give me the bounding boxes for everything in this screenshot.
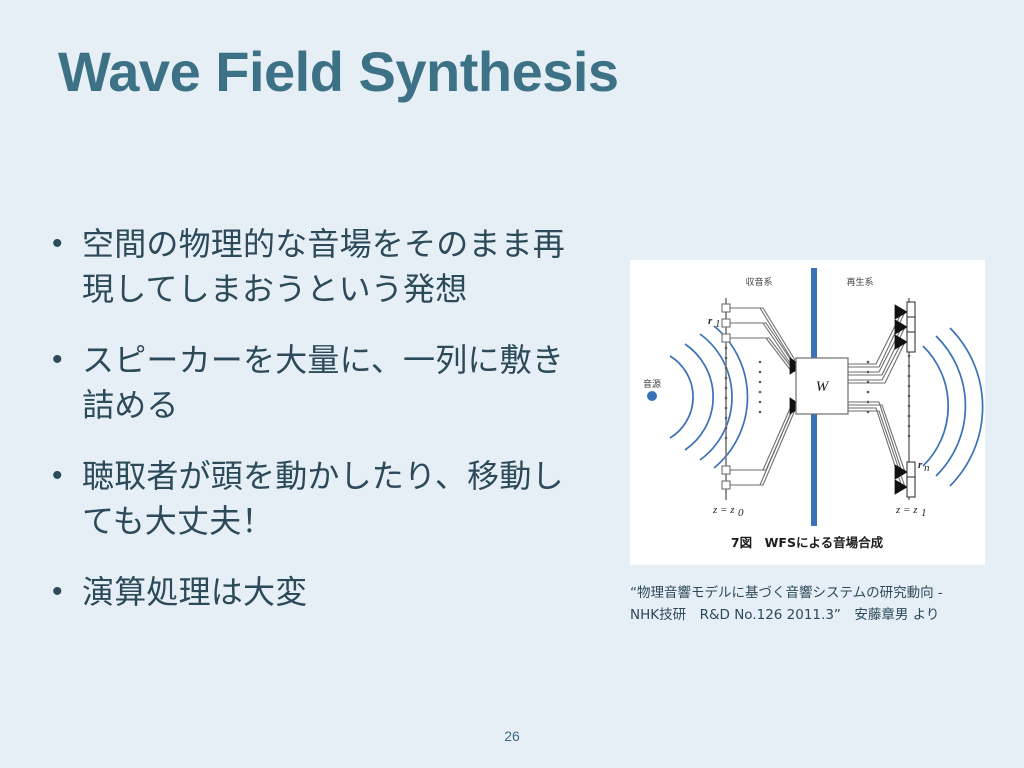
axis-label-right: z = z 1: [895, 504, 927, 519]
citation-line-2: NHK技研 R&D No.126 2011.3” 安藤章男 より: [630, 604, 990, 626]
label-mic-array: r: [708, 315, 713, 327]
capture-wires-bottom: [730, 404, 795, 485]
list-item: • 聴取者が頭を動かしたり、移動しても大丈夫！: [46, 454, 591, 544]
bullet-marker-icon: •: [46, 338, 82, 382]
list-item: • 空間の物理的な音場をそのまま再現してしまおうという発想: [46, 222, 591, 312]
axis-right-sub: 1: [921, 507, 927, 519]
capture-wires-top: [730, 308, 795, 372]
wfs-diagram: 収音系 再生系 音源: [630, 260, 985, 565]
figure-caption: 7図 WFSによる音場合成: [731, 535, 884, 550]
page-title: Wave Field Synthesis: [58, 41, 619, 103]
label-reproduction-system: 再生系: [846, 276, 873, 288]
sound-source-dot: [647, 391, 657, 401]
bullet-text: 演算処理は大変: [82, 570, 591, 615]
bullet-marker-icon: •: [46, 570, 82, 614]
speaker-array-dots: [908, 355, 911, 438]
axis-left-sub: 0: [738, 507, 744, 519]
bullet-text: スピーカーを大量に、一列に敷き詰める: [82, 338, 591, 428]
list-item: • スピーカーを大量に、一列に敷き詰める: [46, 338, 591, 428]
source-wavefront-arcs: [670, 326, 747, 468]
capture-wire-dots: [759, 361, 762, 414]
figure-citation: “物理音響モデルに基づく音響システムの研究動向 - NHK技研 R&D No.1…: [630, 582, 990, 626]
speaker-group-bottom: [895, 462, 915, 497]
axis-right-text: z = z: [895, 504, 918, 516]
bullet-marker-icon: •: [46, 454, 82, 498]
axis-label-left: z = z 0: [712, 504, 744, 519]
speaker-group-top: [895, 302, 915, 352]
axis-left-text: z = z: [712, 504, 735, 516]
bullet-marker-icon: •: [46, 222, 82, 266]
label-speaker-array: r: [918, 459, 923, 471]
list-item: • 演算処理は大変: [46, 570, 591, 615]
bullet-text: 聴取者が頭を動かしたり、移動しても大丈夫！: [82, 454, 591, 544]
label-sound-source: 音源: [643, 378, 661, 390]
figure-panel: 収音系 再生系 音源: [630, 260, 985, 565]
page-number: 26: [0, 728, 1024, 744]
reproduced-wavefront-arcs: [923, 328, 983, 486]
microphone-group-top: [722, 304, 730, 342]
label-mic-array-sub: 1: [715, 318, 721, 330]
label-processor: W: [816, 379, 830, 395]
bullet-list: • 空間の物理的な音場をそのまま再現してしまおうという発想 • スピーカーを大量…: [46, 222, 591, 641]
bullet-text: 空間の物理的な音場をそのまま再現してしまおうという発想: [82, 222, 591, 312]
citation-line-1: “物理音響モデルに基づく音響システムの研究動向 -: [630, 582, 990, 604]
label-capture-system: 収音系: [745, 276, 772, 288]
